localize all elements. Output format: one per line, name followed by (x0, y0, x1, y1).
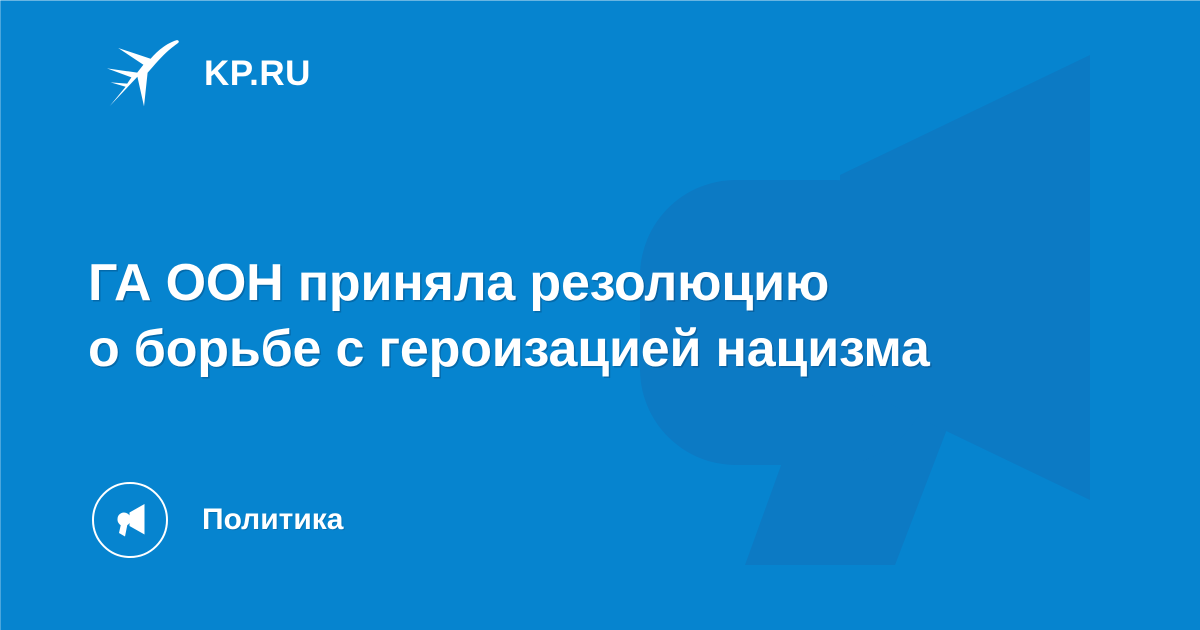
left-edge-divider (0, 0, 1, 630)
category-badge-group[interactable]: Политика (92, 482, 343, 558)
page-title: ГА ООН приняла резолюцию о борьбе с геро… (88, 250, 1078, 382)
brand-header[interactable]: KP.RU (104, 36, 311, 110)
brand-name: KP.RU (204, 56, 311, 91)
headline-line-2: о борьбе с героизацией нацизма (88, 316, 1078, 382)
category-icon-circle[interactable] (92, 482, 168, 558)
category-label: Политика (202, 505, 343, 535)
swallow-bird-logo-icon (104, 36, 180, 110)
megaphone-icon (110, 500, 150, 540)
news-share-card: KP.RU ГА ООН приняла резолюцию о борьбе … (0, 0, 1200, 630)
top-edge-divider (0, 0, 1200, 1)
headline-line-1: ГА ООН приняла резолюцию (88, 250, 1078, 316)
